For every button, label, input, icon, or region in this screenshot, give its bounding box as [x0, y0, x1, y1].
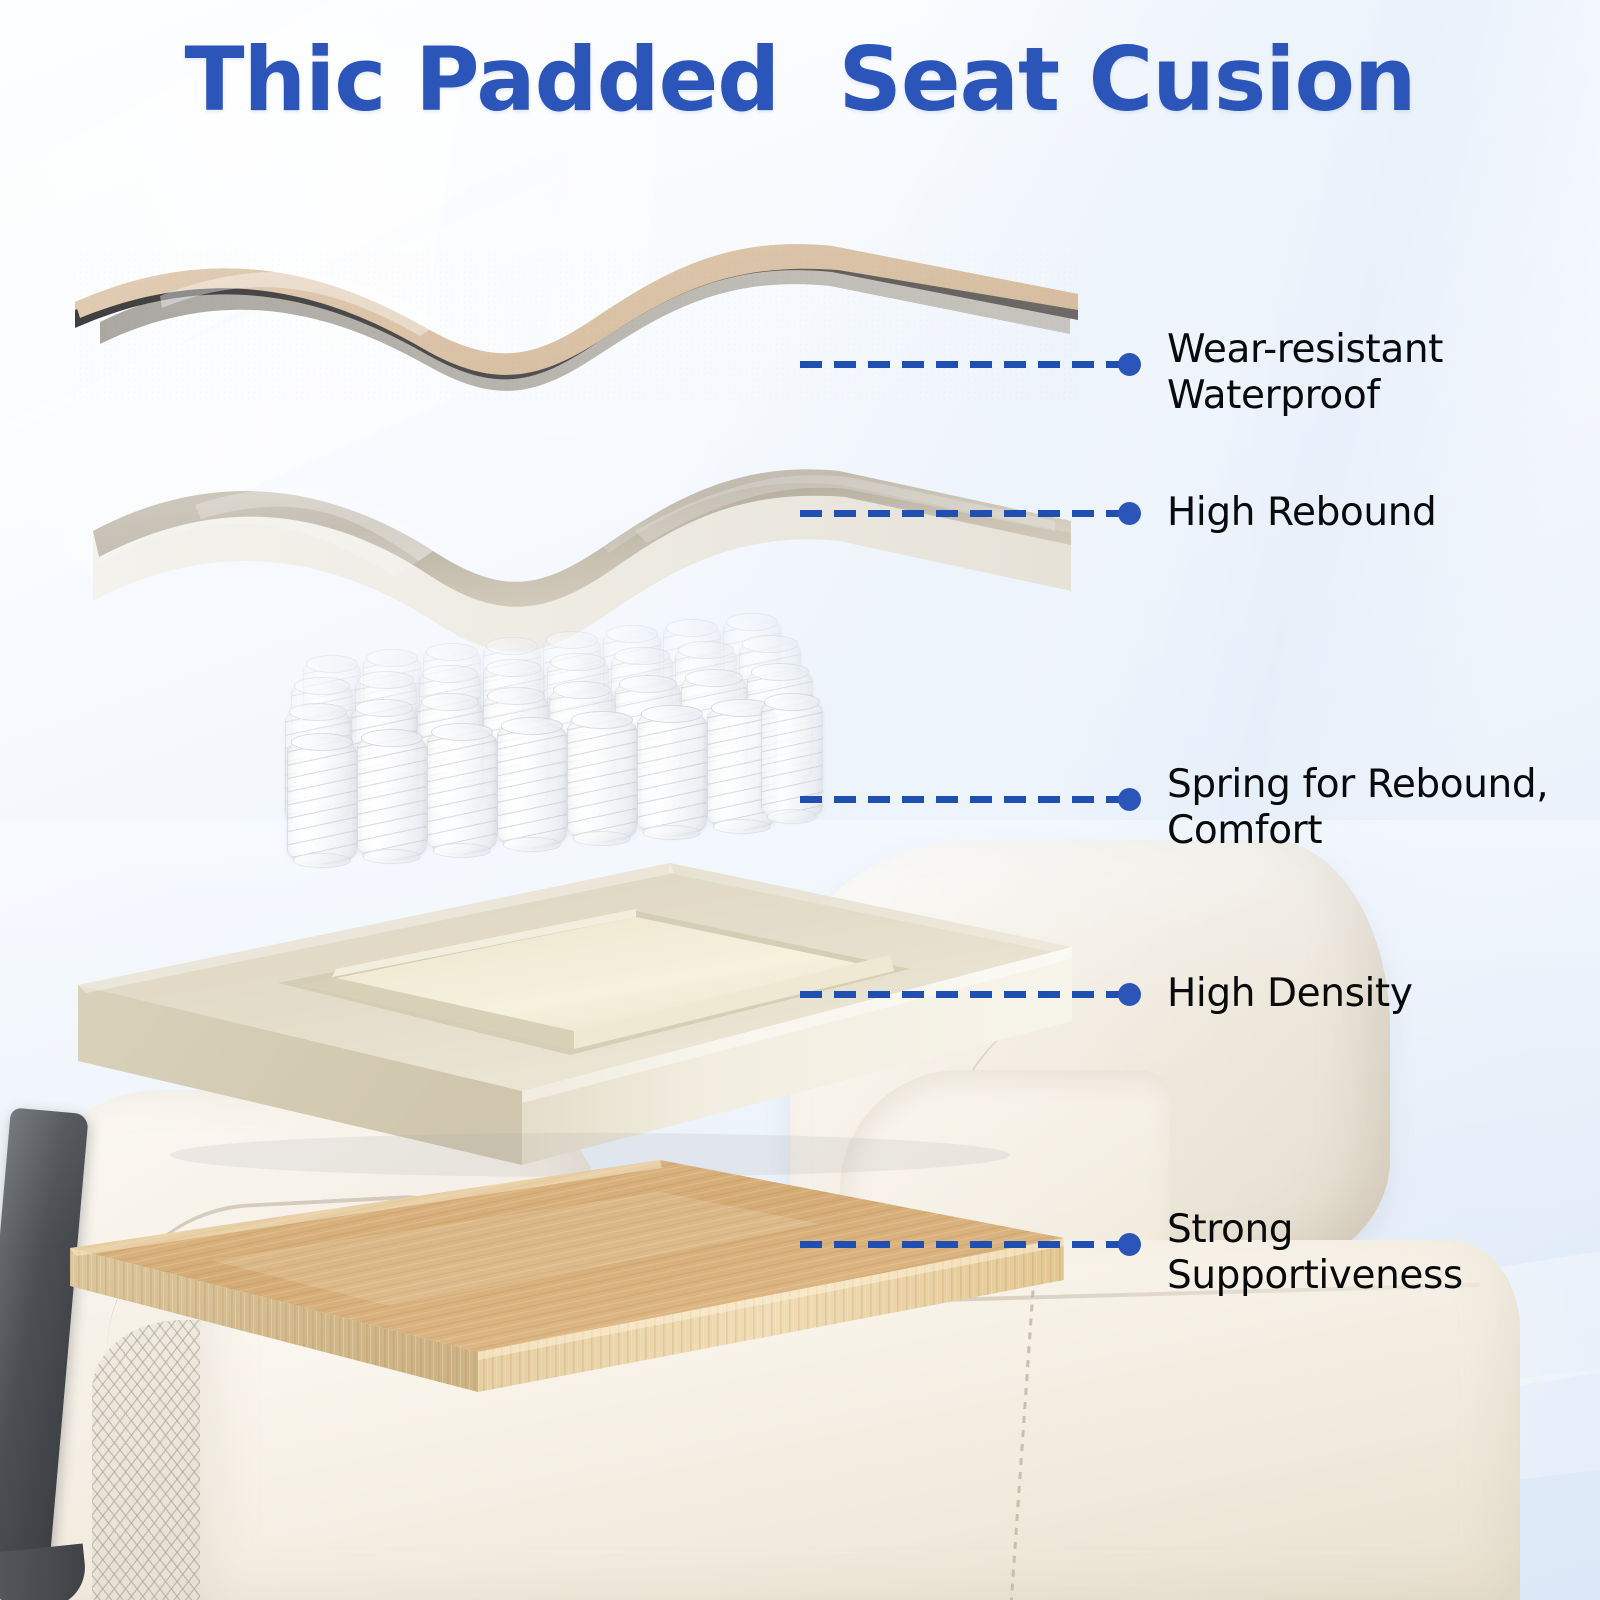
spring-coil — [357, 733, 427, 861]
spring-coil — [567, 715, 637, 843]
leader-line — [800, 361, 1120, 368]
spring-coil — [287, 737, 357, 865]
callout-dot — [1118, 788, 1141, 811]
callout-dot — [1118, 353, 1141, 376]
callout-label: Strong Supportiveness — [1167, 1207, 1463, 1299]
spring-coil — [497, 721, 567, 849]
callout-label: High Rebound — [1167, 490, 1436, 536]
spring-coil — [427, 727, 497, 855]
callout-dot — [1118, 1233, 1141, 1256]
callout-label: Spring for Rebound, Comfort — [1167, 762, 1548, 854]
leader-line — [800, 1241, 1120, 1248]
callout-dot — [1118, 502, 1141, 525]
page-title: Thic Padded Seat Cusion — [0, 28, 1600, 131]
leader-line — [800, 796, 1120, 803]
spring-coil — [637, 709, 707, 837]
infographic-canvas: Thic Padded Seat Cusion — [0, 0, 1600, 1600]
callout-label: Wear-resistant Waterproof — [1167, 327, 1443, 419]
callout-strong-supportiveness[interactable]: Strong Supportiveness — [800, 1189, 1463, 1299]
leader-line — [800, 991, 1120, 998]
callout-spring-for-rebound-comfort[interactable]: Spring for Rebound, Comfort — [800, 744, 1548, 854]
callout-wear-resistant-waterproof[interactable]: Wear-resistant Waterproof — [800, 309, 1443, 419]
leader-line — [800, 510, 1120, 517]
callout-label: High Density — [1167, 971, 1413, 1017]
callout-high-density[interactable]: High Density — [800, 971, 1413, 1017]
callout-high-rebound[interactable]: High Rebound — [800, 490, 1436, 536]
callout-dot — [1118, 983, 1141, 1006]
layer-pocketed-spring-cluster — [285, 645, 805, 865]
